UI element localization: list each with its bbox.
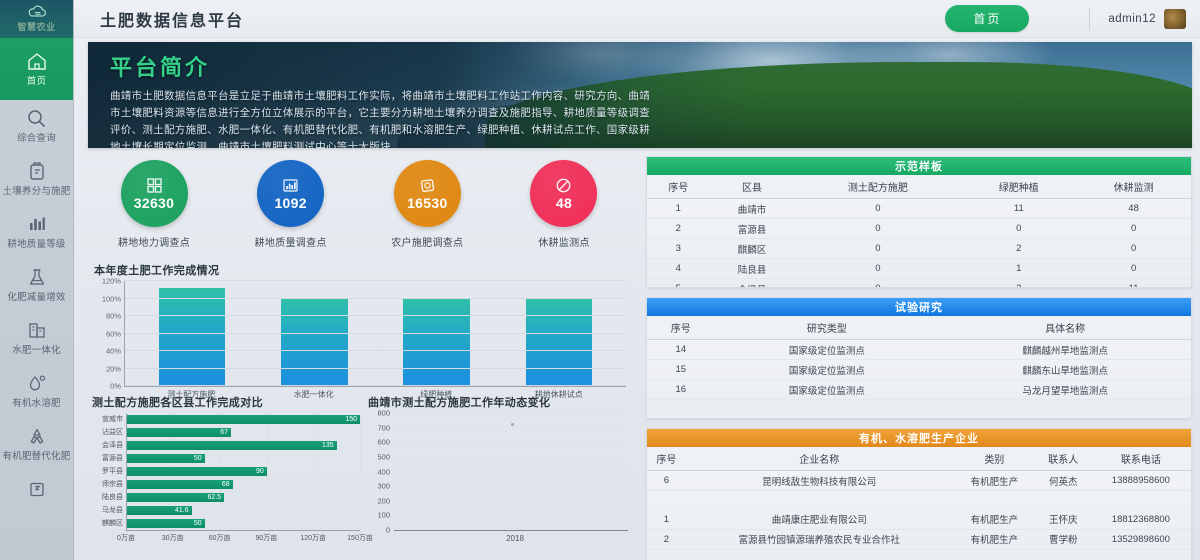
bar-value-label: 68 [222,481,233,488]
research-panel: 试验研究 序号研究类型具体名称 14国家级定位监测点麒麟越州旱地监测点15国家级… [646,297,1192,419]
certificate-icon [28,478,46,500]
table-cell: 国家级定位监测点 [714,360,939,380]
gridline [360,413,361,530]
y-axis-tick: 宣威市 [102,414,123,424]
table-cell: 13529898600 [1091,529,1191,549]
table-cell: 何英杰 [1036,471,1091,491]
hero-content: 平台简介 曲靖市土肥数据信息平台是立足于曲靖市土壤肥料工作实际，将曲靖市土壤肥料… [88,42,648,148]
table-scroll[interactable]: 序号区县测土配方施肥绿肥种植休耕监测 1曲靖市011482富源县0003麒麟区0… [647,175,1191,287]
bar[interactable]: 150 [127,415,360,424]
table-cell: 13888958600 [1091,471,1191,491]
bar-value-label: 135 [322,442,337,449]
sidebar-item-extra[interactable] [0,471,73,512]
bar-value-label: 67 [220,429,231,436]
table-row[interactable]: 3麒麟区020 [647,239,1191,259]
table-cell: 0 [794,259,961,279]
x-axis-label: 2018 [394,534,636,543]
stat-caption: 耕地地力调查点 [118,234,190,249]
table-cell: 0 [1076,239,1191,259]
stat-caption: 耕地质量调查点 [255,234,327,249]
table-cell: 0 [794,219,961,239]
table-cell: 0 [1076,259,1191,279]
table-cell: 4 [647,259,710,279]
main-area: 土肥数据信息平台 首页 admin12 平台简介 曲靖市土肥数据信息平台是立足于… [74,0,1200,560]
bar[interactable]: 68 [127,480,233,489]
bar-value-label: 50 [194,520,205,527]
stat-caption: 农户施肥调查点 [391,234,463,249]
chart-plot-area: 0%20%40%60%80%100%120% [124,281,626,387]
table-scroll[interactable]: 序号企业名称类别联系人联系电话 6昆明线敌生物科技有限公司有机肥生产何英杰138… [647,447,1191,560]
topbar: 土肥数据信息平台 首页 admin12 [74,0,1200,38]
table-column-header: 具体名称 [939,316,1191,340]
stat-caption: 休耕监测点 [538,234,590,249]
table-row[interactable]: 2富源县000 [647,219,1191,239]
table-cell: 2 [647,529,686,549]
table-cell: 5 [647,279,710,288]
stat-value: 48 [556,195,572,211]
bar-row[interactable]: 宣威市150 [127,413,360,426]
y-axis-tick: 罗平县 [102,466,123,476]
bar-value-label: 41.6 [175,507,192,514]
demo-table: 序号区县测土配方施肥绿肥种植休耕监测 1曲靖市011482富源县0003麒麟区0… [647,175,1191,287]
table-cell: 有机肥生产 [953,471,1036,491]
bottom-charts: 测土配方施肥各区县工作完成对比 宣威市150沾益区67会泽县135富源县50罗平… [88,392,636,560]
table-cell: 48 [1076,199,1191,219]
y-axis-tick: 20% [106,364,121,373]
table-header-row: 序号企业名称类别联系人联系电话 [647,447,1191,471]
bar[interactable]: 135 [127,441,337,450]
y-axis-tick: 400 [377,467,390,476]
bar-row[interactable]: 陆良县62.5 [127,491,360,504]
table-cell: 0 [961,219,1076,239]
gridline: 0% [125,385,626,386]
table-cell: 会泽县 [710,279,795,288]
y-axis-tick: 会泽县 [102,440,123,450]
sidebar-item-water-fertilizer[interactable]: 水肥一体化 [0,312,73,365]
sidebar-item-label: 综合查询 [17,133,56,145]
table-cell: 2 [961,279,1076,288]
hero-paragraph: 曲靖市土肥数据信息平台是立足于曲靖市土壤肥料工作实际，将曲靖市土壤肥料工作站工作… [110,88,655,148]
y-axis-tick: 0 [386,526,390,535]
table-cell: 3 [647,239,710,259]
x-axis-tick: 30万亩 [162,533,184,543]
table-cell: 0 [794,199,961,219]
bar-chart-icon [282,177,299,194]
stat-card-fallow-monitor[interactable]: 48 休耕监测点 [508,160,620,260]
gridline: 20% [125,368,626,369]
x-axis-tick: 0万亩 [117,533,135,543]
bar-row[interactable]: 罗平县90 [127,465,360,478]
table-row[interactable]: 14国家级定位监测点麒麟越州旱地监测点 [647,340,1191,360]
gridline: 200 [394,500,628,501]
table-scroll[interactable]: 序号研究类型具体名称 14国家级定位监测点麒麟越州旱地监测点15国家级定位监测点… [647,316,1191,418]
bar-row[interactable]: 沾益区67 [127,426,360,439]
gridline: 60% [125,333,626,334]
stat-card-farmland-power[interactable]: 32630 耕地地力调查点 [98,160,210,260]
avatar[interactable] [1164,9,1186,29]
chart-plot-area: 0100200300400500600700800 [394,413,628,531]
y-axis-tick: 700 [377,423,390,432]
county-comparison-chart: 测土配方施肥各区县工作完成对比 宣威市150沾益区67会泽县135富源县50罗平… [88,392,360,560]
stat-card-farmland-quality[interactable]: 1092 耕地质量调查点 [235,160,347,260]
bar-row[interactable]: 麒麟区50 [127,517,360,530]
bar-row[interactable]: 马龙县41.6 [127,504,360,517]
yearly-trend-chart: 曲靖市测土配方施肥工作年动态变化 01002003004005006007008… [364,392,636,560]
x-axis-tick: 120万亩 [300,533,326,543]
gridline: 500 [394,456,628,457]
demo-sample-panel: 示范样板 序号区县测土配方施肥绿肥种植休耕监测 1曲靖市011482富源县000… [646,156,1192,288]
table-column-header: 类别 [953,447,1036,471]
sidebar-item-organic-substitute[interactable]: 有机肥替代化肥 [0,418,73,471]
sidebar-item-label: 土壤养分与施肥 [3,186,71,198]
bar[interactable]: 50 [127,454,205,463]
bar-row[interactable]: 会泽县135 [127,439,360,452]
sidebar-item-home[interactable]: 首页 [0,38,73,100]
y-axis-tick: 40% [106,347,121,356]
bar[interactable] [403,299,470,387]
left-column: 32630 耕地地力调查点 1092 耕地质量调查点 [88,156,636,560]
user-name[interactable]: admin12 [1108,13,1156,25]
panel-title: 试验研究 [647,298,1191,316]
stat-cards: 32630 耕地地力调查点 1092 耕地质量调查点 [88,156,636,260]
table-cell: 1 [647,510,686,530]
bar-value-label: 150 [345,416,360,423]
bar[interactable] [159,288,226,386]
table-cell: 6 [647,471,686,491]
sidebar-item-label: 有机水溶肥 [12,398,61,410]
flask-icon [27,266,47,288]
gridline: 100% [125,298,626,299]
table-cell: 11 [1076,279,1191,288]
table-cell: 富源县竹园镇源瑞养殖农民专业合作社 [686,529,953,549]
table-cell: 0 [794,279,961,288]
y-axis-tick: 200 [377,496,390,505]
table-cell: 15 [647,360,714,380]
table-cell: 曹学粉 [1036,529,1091,549]
table-spacer-row [647,491,1191,510]
stat-value: 32630 [134,195,174,211]
table-cell: 曲靖康庄肥业有限公司 [686,510,953,530]
sidebar-item-water-soluble[interactable]: 有机水溶肥 [0,365,73,418]
table-header-row: 序号研究类型具体名称 [647,316,1191,340]
gridline: 400 [394,471,628,472]
y-axis-tick: 陆良县 [102,492,123,502]
table-row[interactable]: 1曲靖康庄肥业有限公司有机肥生产王怀庆18812368800 [647,510,1191,530]
table-cell: 麒麟越州旱地监测点 [939,340,1191,360]
sidebar-item-label: 有机肥替代化肥 [3,451,71,463]
table-cell: 曲靖市 [710,199,795,219]
table-cell: 富源县 [710,219,795,239]
gridline: 300 [394,485,628,486]
y-axis-tick: 80% [106,312,121,321]
sidebar-item-label: 化肥减量增效 [7,292,65,304]
y-axis-tick: 300 [377,482,390,491]
table-column-header: 研究类型 [714,316,939,340]
sidebar-item-fertilizer-reduction[interactable]: 化肥减量增效 [0,259,73,312]
gridline: 0 [394,529,628,530]
table-cell: 2 [647,219,710,239]
bar-row[interactable]: 师宗县68 [127,478,360,491]
table-cell: 有机肥生产 [953,510,1036,530]
table-column-header: 测土配方施肥 [794,175,961,199]
table-cell: 18812368800 [1091,510,1191,530]
table-column-header: 联系人 [1036,447,1091,471]
home-button[interactable]: 首页 [945,5,1029,32]
bar[interactable]: 62.5 [127,493,224,502]
completion-bar-chart: 本年度土肥工作完成情况 0%20%40%60%80%100%120% 测土配方施… [88,262,636,390]
table-cell: 2 [961,239,1076,259]
table-column-header: 序号 [647,316,714,340]
gridline: 700 [394,427,628,428]
bar-chart-icon [27,213,47,235]
gridline: 800 [394,412,628,413]
cloud-icon [26,5,48,19]
chart-title: 曲靖市测土配方施肥工作年动态变化 [368,394,636,410]
stat-card-farmer-fertilizing[interactable]: 16530 农户施肥调查点 [371,160,483,260]
soil-bottle-icon [28,160,46,182]
table-cell: 0 [794,239,961,259]
panel-title: 示范样板 [647,157,1191,175]
bar[interactable] [526,299,593,387]
x-axis-labels: 0万亩30万亩60万亩90万亩120万亩150万亩 [126,531,360,545]
sidebar: 智慧农业 首页 综合查询 土壤养分与施肥 耕地质量等级 [0,0,74,560]
table-cell: 14 [647,340,714,360]
right-column: 示范样板 序号区县测土配方施肥绿肥种植休耕监测 1曲靖市011482富源县000… [646,156,1192,560]
table-row[interactable]: 4陆良县010 [647,259,1191,279]
bar[interactable] [281,299,348,387]
stat-value: 1092 [274,195,306,211]
gridline: 80% [125,315,626,316]
sidebar-item-label: 首页 [27,76,46,88]
y-axis-tick: 500 [377,452,390,461]
table-cell: 麒麟东山旱地监测点 [939,360,1191,380]
table-cell: 马龙月望旱地监测点 [939,380,1191,400]
table-cell: 16 [647,380,714,400]
table-cell: 有机肥生产 [953,529,1036,549]
bar-value-label: 50 [194,455,205,462]
y-axis-tick: 富源县 [102,453,123,463]
x-axis-tick: 60万亩 [209,533,231,543]
table-column-header: 联系电话 [1091,447,1191,471]
table-column-header: 绿肥种植 [961,175,1076,199]
y-axis-tick: 马龙县 [102,505,123,515]
app-logo-text: 智慧农业 [17,20,55,33]
enterprise-panel: 有机、水溶肥生产企业 序号企业名称类别联系人联系电话 6昆明线敌生物科技有限公司… [646,428,1192,560]
enterprise-table: 序号企业名称类别联系人联系电话 6昆明线敌生物科技有限公司有机肥生产何英杰138… [647,447,1191,550]
stat-circle: 1092 [257,160,324,227]
table-cell: 陆良县 [710,259,795,279]
no-entry-icon [555,177,572,194]
chart-title: 本年度土肥工作完成情况 [94,262,636,278]
dashboard-page: 智慧农业 首页 综合查询 土壤养分与施肥 耕地质量等级 [0,0,1200,560]
bar[interactable]: 67 [127,428,231,437]
stat-circle: 32630 [121,160,188,227]
table-column-header: 序号 [647,175,710,199]
bar[interactable]: 90 [127,467,267,476]
bar-row[interactable]: 富源县50 [127,452,360,465]
gridline: 40% [125,350,626,351]
table-row[interactable]: 2富源县竹园镇源瑞养殖农民专业合作社有机肥生产曹学粉13529898600 [647,529,1191,549]
chart-plot-area: 宣威市150沾益区67会泽县135富源县50罗平县90师宗县68陆良县62.5马… [126,413,360,531]
table-row[interactable]: 5会泽县0211 [647,279,1191,288]
building-icon [27,319,47,341]
y-axis-tick: 100 [377,511,390,520]
table-column-header: 休耕监测 [1076,175,1191,199]
sidebar-item-label: 耕地质量等级 [7,239,65,251]
content-grid: 32630 耕地地力调查点 1092 耕地质量调查点 [74,148,1200,560]
y-axis-tick: 120% [102,277,121,286]
y-axis-tick: 师宗县 [102,479,123,489]
table-cell: 11 [961,199,1076,219]
research-table: 序号研究类型具体名称 14国家级定位监测点麒麟越州旱地监测点15国家级定位监测点… [647,316,1191,400]
sidebar-item-soil-nutrient[interactable]: 土壤养分与施肥 [0,153,73,206]
table-cell: 昆明线敌生物科技有限公司 [686,471,953,491]
table-row[interactable]: 6昆明线敌生物科技有限公司有机肥生产何英杰13888958600 [647,471,1191,491]
hero-banner: 平台简介 曲靖市土肥数据信息平台是立足于曲靖市土壤肥料工作实际，将曲靖市土壤肥料… [88,42,1192,148]
topbar-divider [1089,8,1090,30]
grid-icon [146,177,163,194]
gridline: 120% [125,280,626,281]
stat-value: 16530 [407,195,447,211]
home-icon [26,50,48,72]
y-axis-tick: 600 [377,438,390,447]
table-cell: 国家级定位监测点 [714,340,939,360]
table-column-header: 企业名称 [686,447,953,471]
gridline: 100 [394,514,628,515]
table-row[interactable]: 15国家级定位监测点麒麟东山旱地监测点 [647,360,1191,380]
sidebar-item-farmland-quality[interactable]: 耕地质量等级 [0,206,73,259]
bar-value-label: 62.5 [207,494,224,501]
sidebar-item-label: 水肥一体化 [12,345,61,357]
y-axis-tick: 60% [106,329,121,338]
table-cell: 0 [1076,219,1191,239]
app-logo[interactable]: 智慧农业 [0,0,73,38]
hero-title: 平台简介 [110,50,648,82]
table-column-header: 区县 [710,175,795,199]
table-cell: 1 [961,259,1076,279]
table-column-header: 序号 [647,447,686,471]
chart-title: 测土配方施肥各区县工作完成对比 [92,394,360,410]
page-title: 土肥数据信息平台 [100,7,244,31]
y-axis-tick: 800 [377,409,390,418]
y-axis-tick: 麒麟区 [102,518,123,528]
x-axis-tick: 90万亩 [255,533,277,543]
x-axis-tick: 150万亩 [347,533,373,543]
table-cell: 王怀庆 [1036,510,1091,530]
bar[interactable]: 41.6 [127,506,192,515]
table-row[interactable]: 1曲靖市01148 [647,199,1191,219]
bar[interactable]: 50 [127,519,205,528]
sidebar-item-query[interactable]: 综合查询 [0,100,73,153]
table-header-row: 序号区县测土配方施肥绿肥种植休耕监测 [647,175,1191,199]
table-cell: 1 [647,199,710,219]
gridline: 600 [394,441,628,442]
table-row[interactable]: 16国家级定位监测点马龙月望旱地监测点 [647,380,1191,400]
stat-circle: 16530 [394,160,461,227]
y-axis-tick: 100% [102,294,121,303]
recycle-icon [27,425,47,447]
y-axis-tick: 0% [110,382,121,391]
water-drop-icon [27,372,47,394]
panel-title: 有机、水溶肥生产企业 [647,429,1191,447]
stat-circle: 48 [530,160,597,227]
table-cell: 麒麟区 [710,239,795,259]
stamp-icon [419,177,436,194]
table-cell: 国家级定位监测点 [714,380,939,400]
bar-value-label: 90 [256,468,267,475]
y-axis-tick: 沾益区 [102,427,123,437]
search-icon [26,107,47,129]
